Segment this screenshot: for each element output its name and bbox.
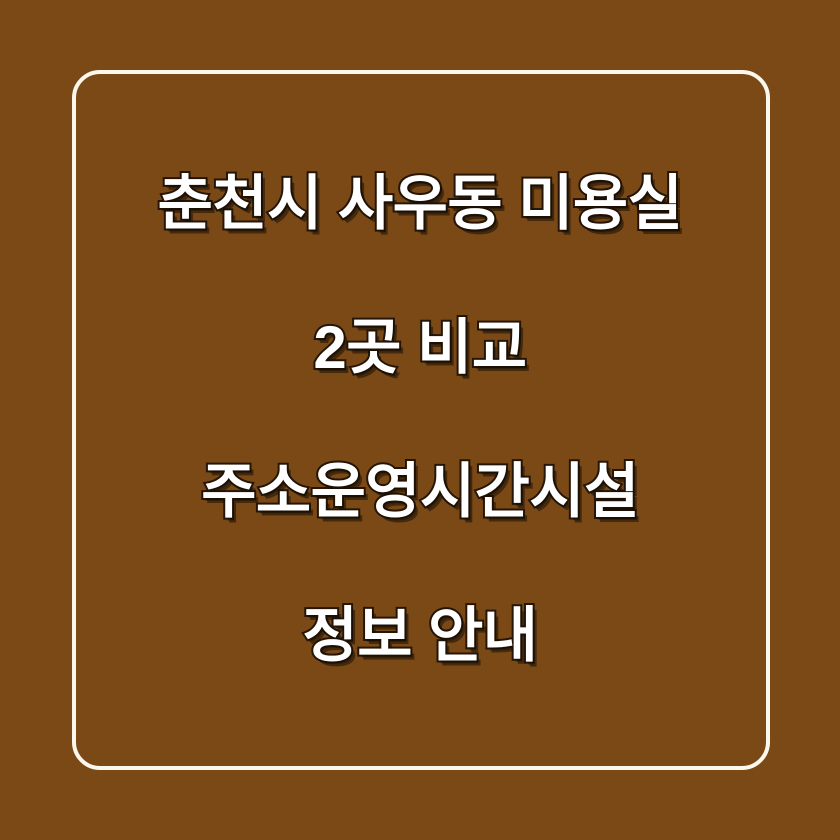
page-title-line-1: 춘천시 사우동 미용실 <box>158 168 683 240</box>
page-title: 춘천시 사우동 미용실 2곳 비교 주소운영시간시설 정보 안내 <box>158 96 683 744</box>
poster-canvas: 춘천시 사우동 미용실 2곳 비교 주소운영시간시설 정보 안내 <box>0 0 840 840</box>
page-title-line-3: 주소운영시간시설 <box>158 456 683 528</box>
headline-container: 춘천시 사우동 미용실 2곳 비교 주소운영시간시설 정보 안내 <box>0 0 840 840</box>
page-title-line-4: 정보 안내 <box>158 600 683 672</box>
page-title-line-2: 2곳 비교 <box>158 312 683 384</box>
